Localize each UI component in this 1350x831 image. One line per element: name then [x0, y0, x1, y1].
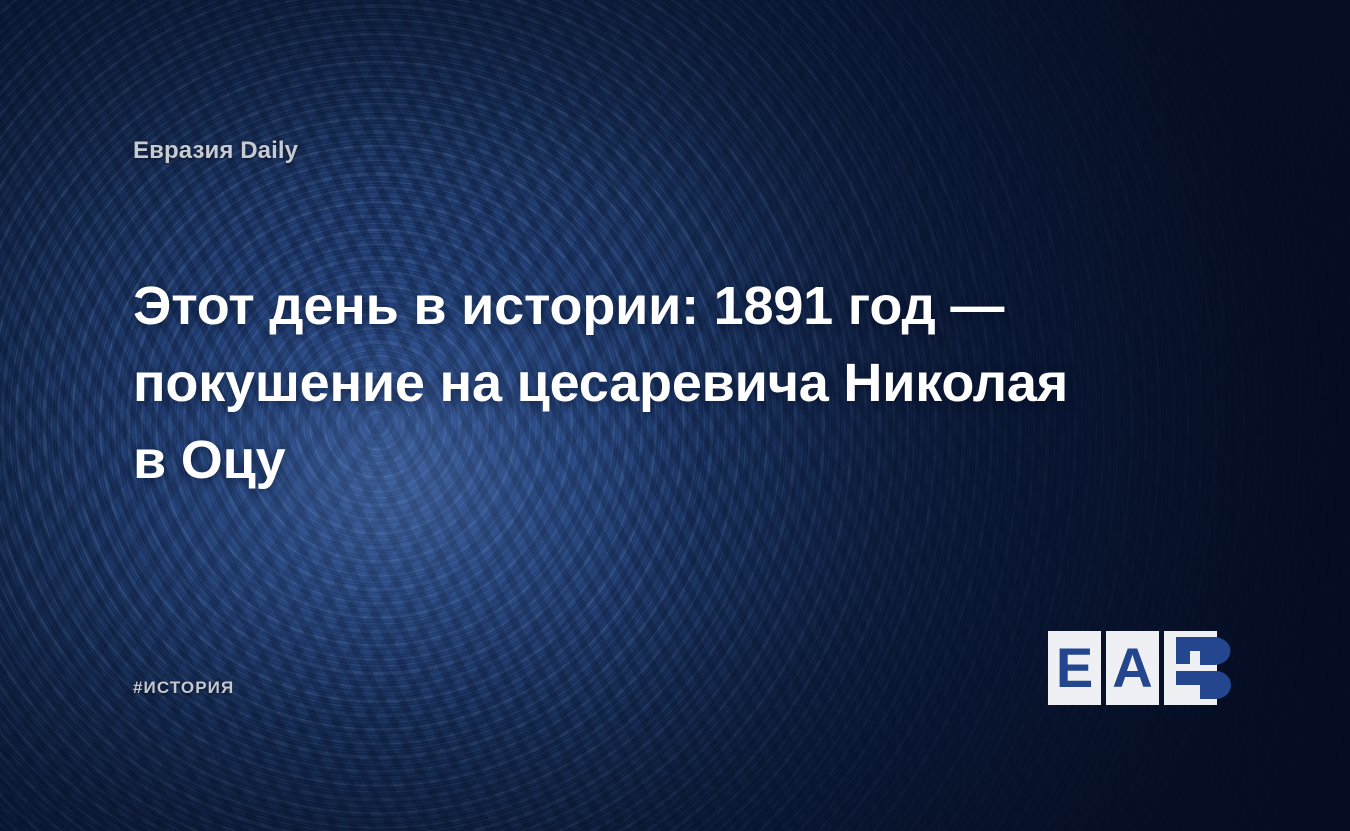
- logo-letter-a: A: [1112, 640, 1152, 696]
- logo-tile-d: [1164, 631, 1217, 705]
- article-cover-poster: Евразия Daily Этот день в истории: 1891 …: [0, 0, 1350, 831]
- poster-content: Евразия Daily Этот день в истории: 1891 …: [0, 0, 1350, 831]
- logo-tile-a: A: [1106, 631, 1159, 705]
- logo-letter-d-glyph: [1164, 631, 1240, 705]
- eadaily-logo[interactable]: E A: [1048, 631, 1217, 705]
- logo-tile-e: E: [1048, 631, 1101, 705]
- category-tag[interactable]: #ИСТОРИЯ: [133, 678, 234, 698]
- page-title: Этот день в истории: 1891 год — покушени…: [133, 268, 1093, 499]
- site-brand-label: Евразия Daily: [133, 137, 298, 165]
- logo-letter-e: E: [1056, 640, 1093, 696]
- headline-line-1: Этот день в истории: 1891 год —: [133, 276, 1004, 336]
- headline-line-3: в Оцу: [133, 430, 285, 490]
- headline-line-2: покушение на цесаревича Николая: [133, 353, 1068, 413]
